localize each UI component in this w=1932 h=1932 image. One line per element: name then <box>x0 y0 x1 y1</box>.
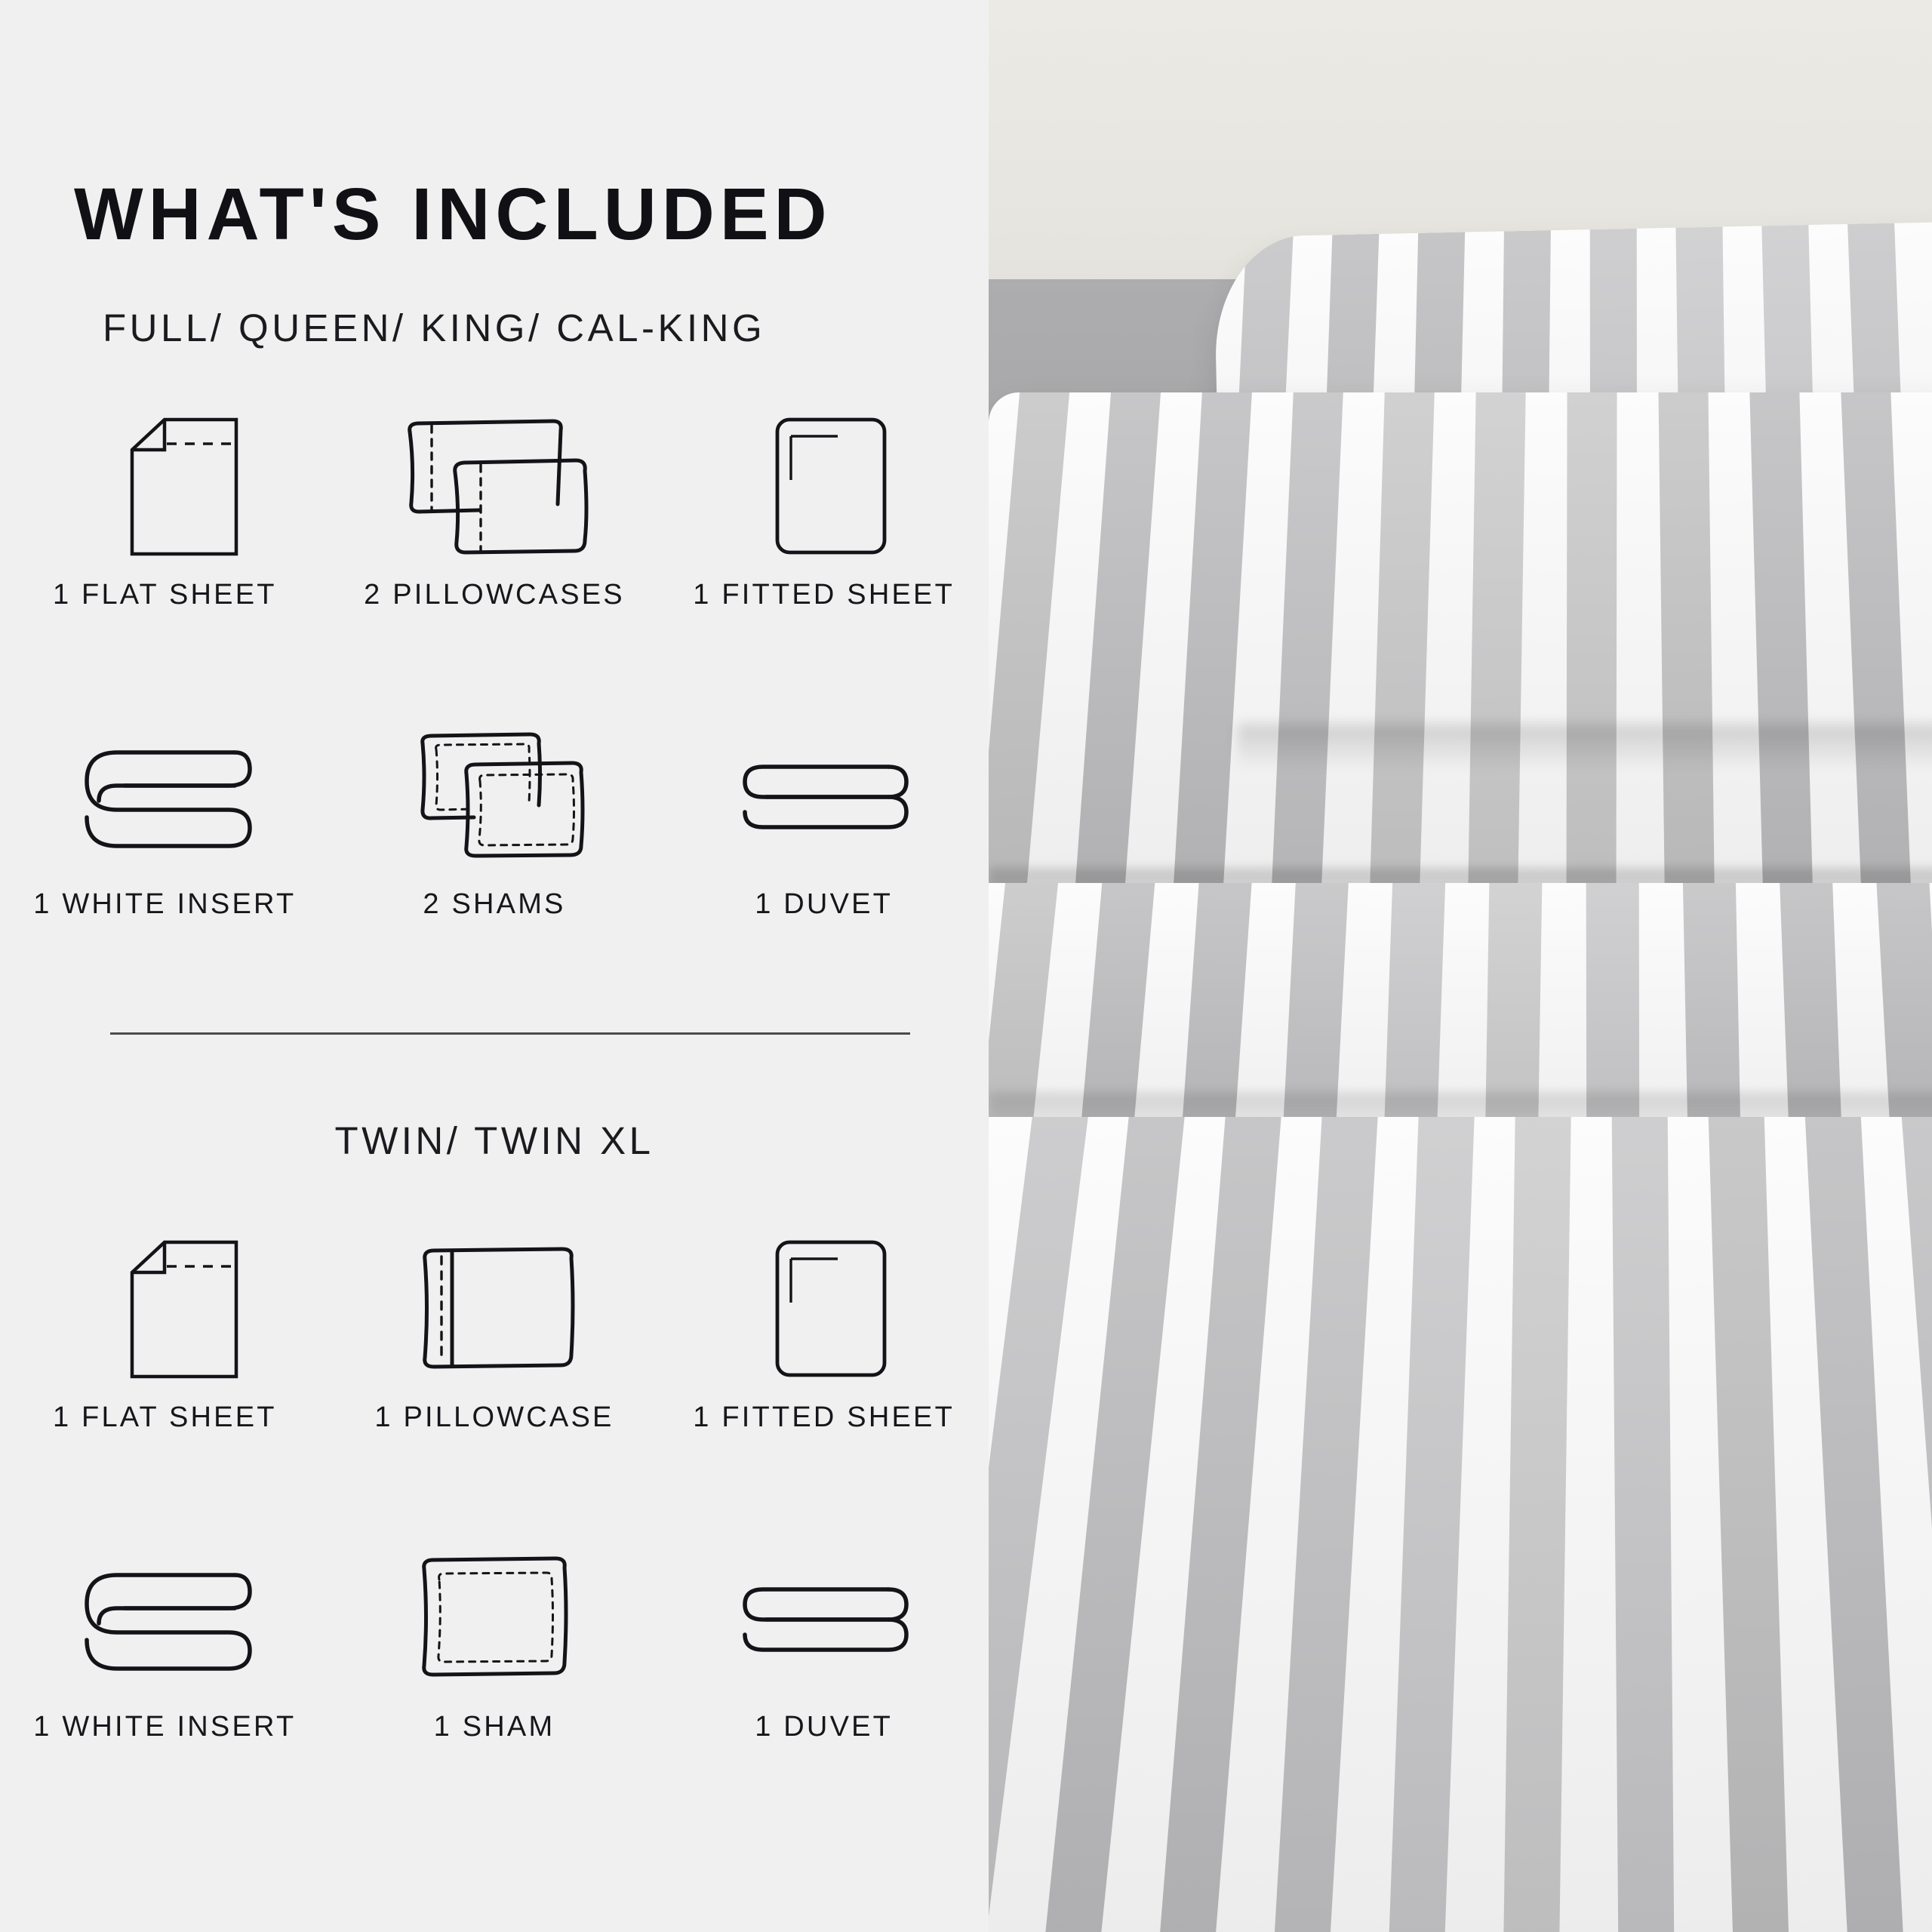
section-heading-twin: TWIN/ TWIN XL <box>0 1118 989 1163</box>
item-label: 1 FITTED SHEET <box>693 1401 955 1434</box>
included-item-two-shams: 2 SHAMS <box>330 717 660 921</box>
included-item-fitted-sheet-twin: 1 FITTED SHEET <box>659 1230 989 1434</box>
included-row-full-1: 1 FLAT SHEET 2 PILLOWCASES <box>0 408 989 611</box>
included-row-twin-1: 1 FLAT SHEET 1 PILLOWCASE <box>0 1230 989 1434</box>
folded-insert-icon <box>0 717 330 872</box>
item-label: 2 SHAMS <box>423 888 565 921</box>
two-shams-icon <box>330 717 660 872</box>
one-pillowcase-icon <box>330 1230 660 1385</box>
included-item-duvet: 1 DUVET <box>659 717 989 921</box>
item-label: 1 PILLOWCASE <box>374 1401 614 1434</box>
included-item-flat-sheet-twin: 1 FLAT SHEET <box>0 1230 330 1434</box>
section-heading-full-queen-king: FULL/ QUEEN/ KING/ CAL-KING <box>103 306 765 350</box>
item-label: 1 DUVET <box>755 1711 893 1743</box>
included-item-white-insert: 1 WHITE INSERT <box>0 717 330 921</box>
section-divider <box>110 1032 910 1035</box>
whats-included-panel: WHAT'S INCLUDED FULL/ QUEEN/ KING/ CAL-K… <box>0 0 989 1932</box>
folded-insert-icon <box>0 1540 330 1694</box>
included-item-one-sham: 1 SHAM <box>330 1540 660 1743</box>
included-item-fitted-sheet: 1 FITTED SHEET <box>659 408 989 611</box>
striped-duvet-body <box>989 1117 1932 1932</box>
item-label: 1 WHITE INSERT <box>33 1711 296 1743</box>
included-item-duvet-twin: 1 DUVET <box>659 1540 989 1743</box>
pillow-shadow <box>1238 724 1932 770</box>
included-item-two-pillowcases: 2 PILLOWCASES <box>330 408 660 611</box>
item-label: 1 DUVET <box>755 888 893 921</box>
fitted-sheet-icon <box>659 1230 989 1385</box>
item-label: 1 FITTED SHEET <box>693 579 955 611</box>
product-infographic: WHAT'S INCLUDED FULL/ QUEEN/ KING/ CAL-K… <box>0 0 1932 1932</box>
item-label: 1 WHITE INSERT <box>33 888 296 921</box>
included-row-twin-2: 1 WHITE INSERT 1 SHAM <box>0 1540 989 1743</box>
included-row-full-2: 1 WHITE INSERT 2 SHAMS <box>0 717 989 921</box>
flat-sheet-icon <box>0 1230 330 1385</box>
fitted-sheet-icon <box>659 408 989 562</box>
two-pillowcases-icon <box>330 408 660 562</box>
item-label: 2 PILLOWCASES <box>364 579 625 611</box>
item-label: 1 FLAT SHEET <box>53 579 277 611</box>
striped-pillow-front <box>989 392 1932 936</box>
included-item-white-insert-twin: 1 WHITE INSERT <box>0 1540 330 1743</box>
folded-duvet-icon <box>659 717 989 872</box>
item-label: 1 SHAM <box>434 1711 555 1743</box>
item-label: 1 FLAT SHEET <box>53 1401 277 1434</box>
included-item-one-pillowcase: 1 PILLOWCASE <box>330 1230 660 1434</box>
one-sham-icon <box>330 1540 660 1694</box>
folded-duvet-icon <box>659 1540 989 1694</box>
product-photo <box>989 0 1932 1932</box>
page-title: WHAT'S INCLUDED <box>74 172 832 257</box>
flat-sheet-icon <box>0 408 330 562</box>
included-item-flat-sheet: 1 FLAT SHEET <box>0 408 330 611</box>
